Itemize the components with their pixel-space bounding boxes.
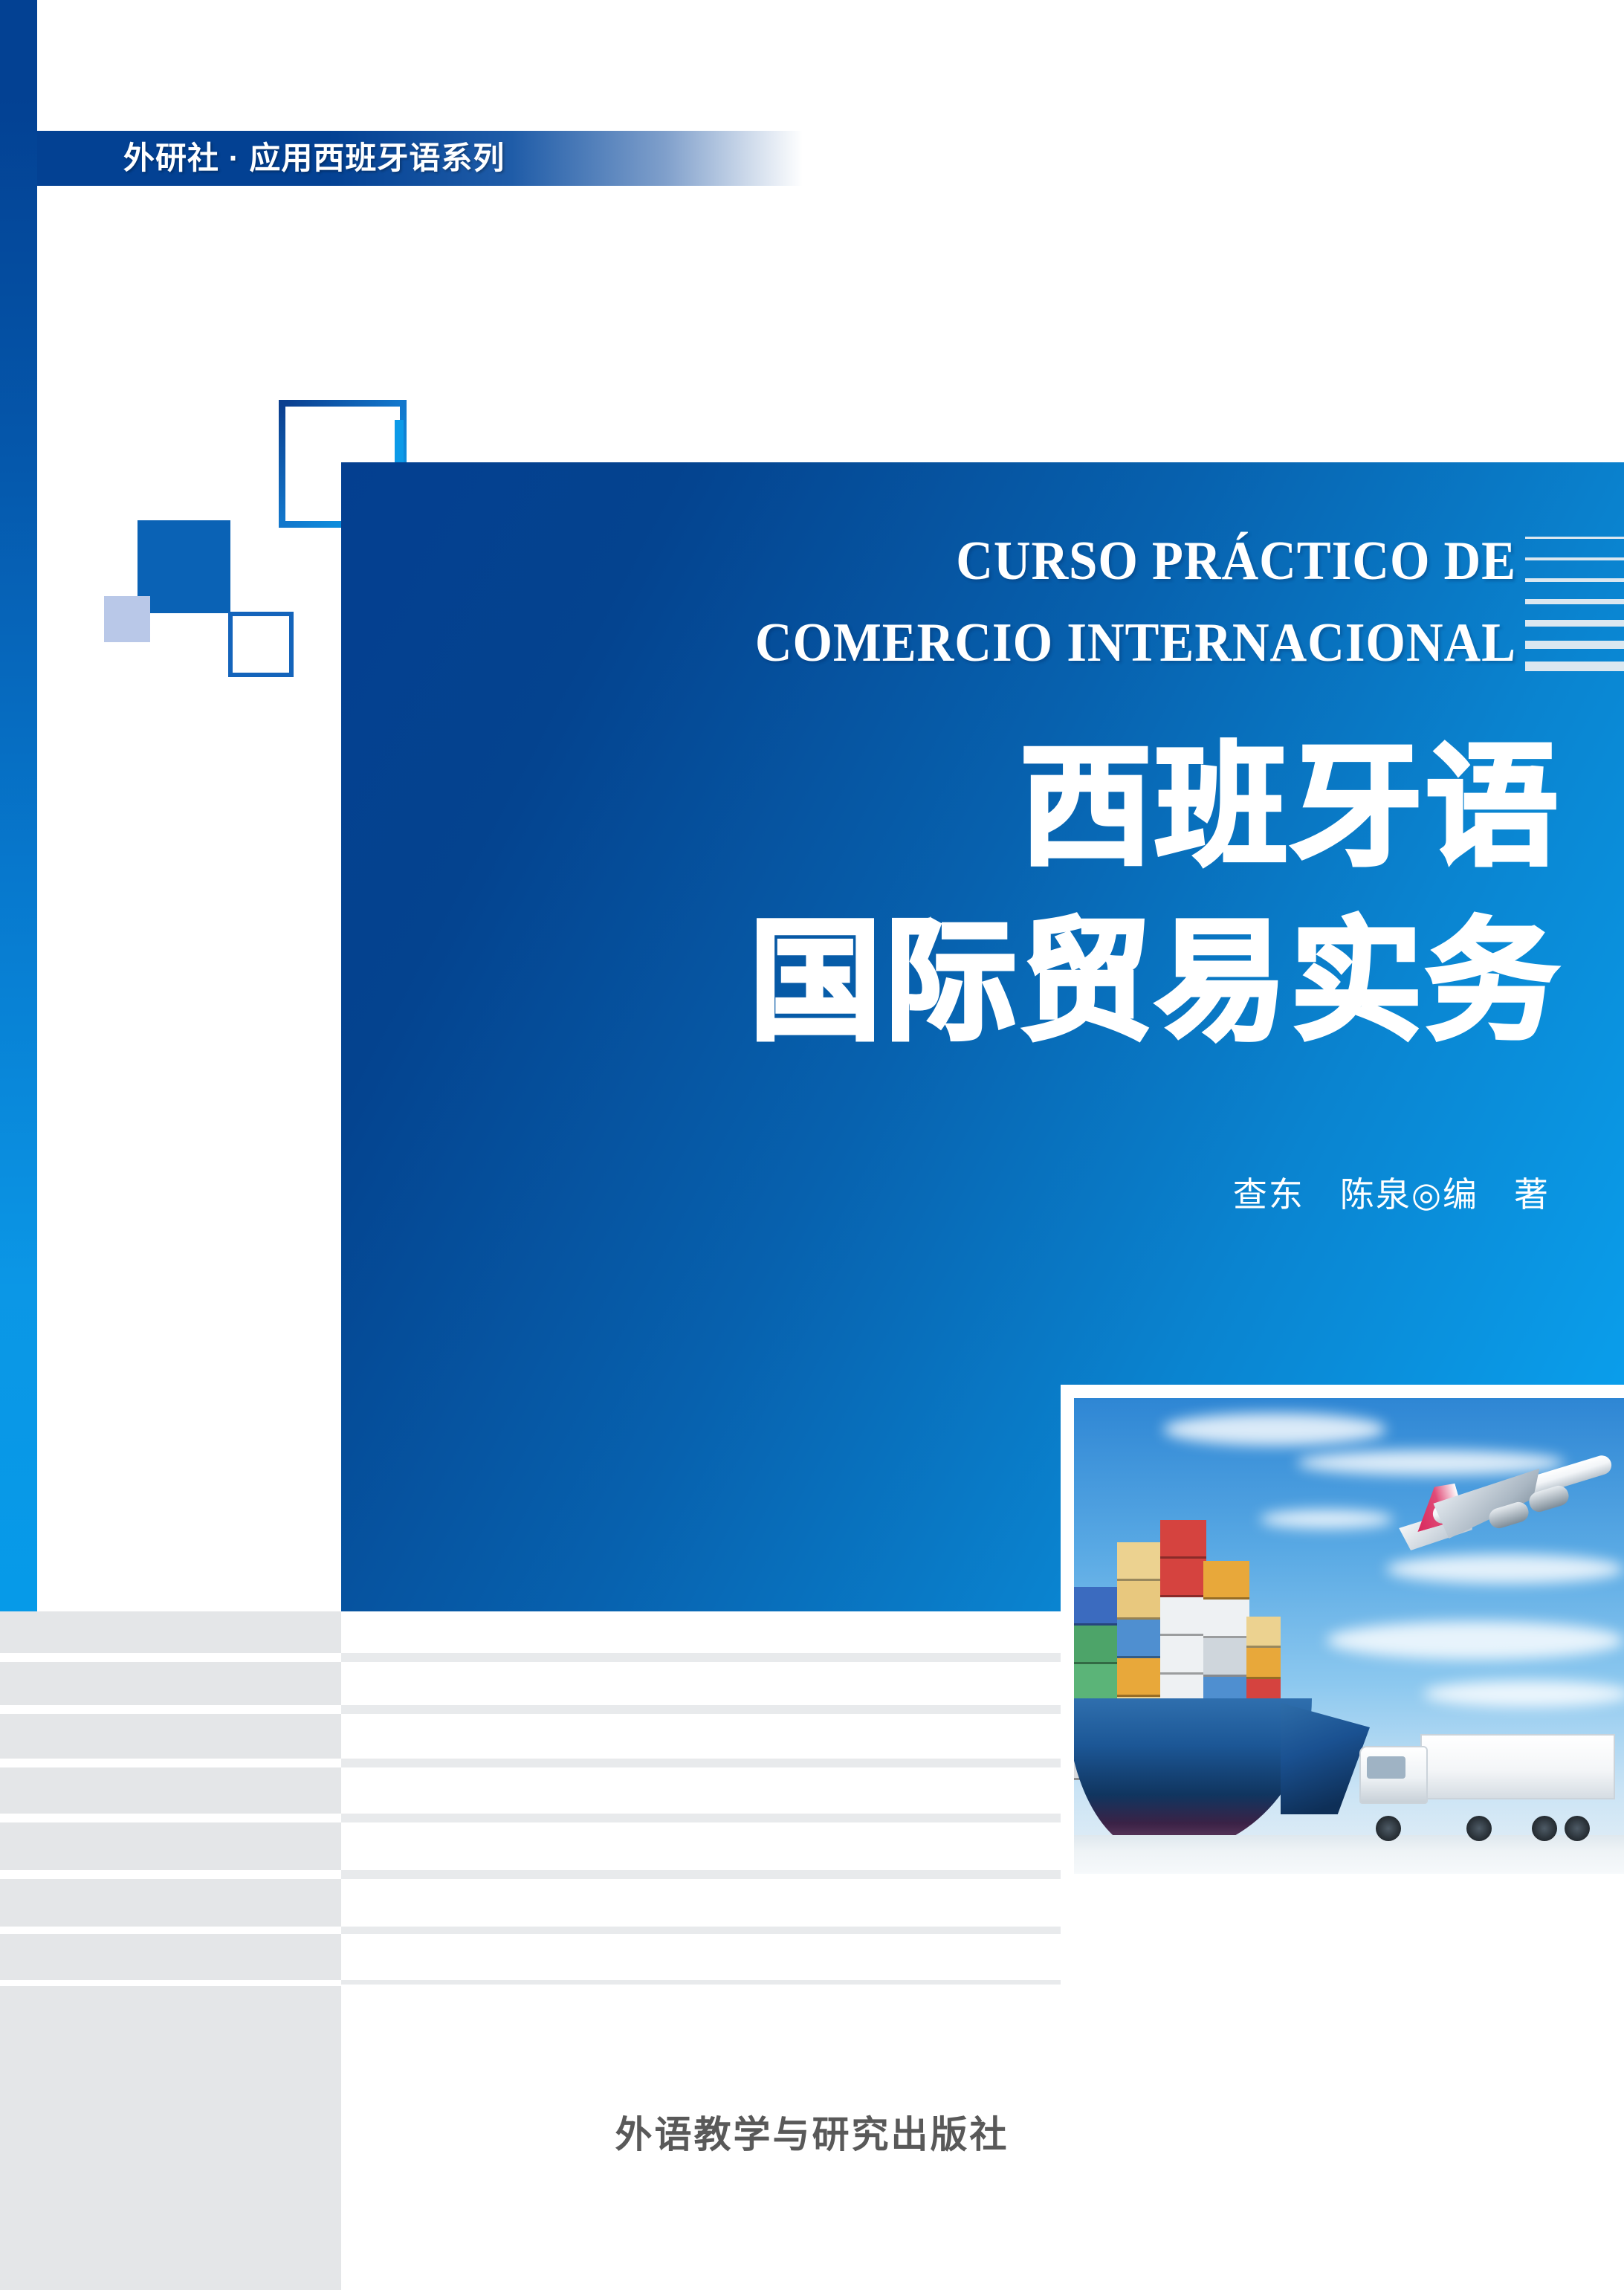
band-gap — [341, 1662, 1061, 1705]
band — [0, 1934, 341, 1980]
publisher-name: 外语教学与研究出版社 — [0, 2105, 1624, 2158]
chinese-main-title: 西班牙语 国际贸易实务 — [669, 719, 1561, 1069]
band-gap — [0, 1927, 341, 1934]
band — [0, 1822, 341, 1870]
band-gap — [0, 1705, 341, 1714]
truck-wheel — [1376, 1816, 1401, 1841]
cover-photo-frame — [1061, 1385, 1624, 1874]
band — [341, 1927, 1061, 1934]
band-gap — [341, 1822, 1061, 1870]
band — [0, 1767, 341, 1814]
band — [341, 1759, 1061, 1767]
spanish-title-line-2: COMERCIO INTERNACIONAL — [521, 602, 1516, 684]
band-gap — [0, 1653, 341, 1662]
rule-line-5 — [1525, 620, 1624, 627]
band-gap — [341, 1611, 1061, 1653]
square-pale-small-icon — [104, 596, 150, 642]
rule-line-4 — [1525, 599, 1624, 604]
band — [0, 1714, 341, 1759]
container-ship-hull — [1074, 1698, 1312, 1854]
book-cover: 外研社 · 应用西班牙语系列 CURSO PRÁCTICO DE COMERCI… — [0, 0, 1624, 2290]
cloud-wisp — [1386, 1554, 1624, 1584]
band — [341, 1870, 1061, 1879]
band-gap — [0, 1759, 341, 1767]
band — [0, 1662, 341, 1705]
container-column — [1246, 1617, 1281, 1710]
series-banner-label: 外研社 · 应用西班牙语系列 — [123, 137, 505, 180]
truck-trailer — [1420, 1734, 1615, 1799]
cloud-wisp — [1163, 1413, 1386, 1446]
band-gap — [0, 1870, 341, 1879]
rule-line-7 — [1525, 662, 1624, 671]
rule-line-6 — [1525, 641, 1624, 649]
author-credit: 查东 陈泉◎编 著 — [818, 1171, 1550, 1218]
rule-line-2 — [1525, 557, 1624, 560]
square-solid-medium-icon — [138, 520, 230, 613]
square-outline-small-icon — [228, 612, 294, 677]
band-gap — [341, 1714, 1061, 1759]
truck-wheel — [1466, 1816, 1492, 1841]
band-gap — [341, 1879, 1061, 1927]
decorative-rule-stack — [1525, 537, 1624, 671]
chinese-title-line-1: 西班牙语 — [669, 719, 1561, 894]
lower-band-pattern-right — [341, 1611, 1061, 2290]
spanish-title-line-1: CURSO PRÁCTICO DE — [521, 520, 1516, 602]
chinese-title-line-2: 国际贸易实务 — [669, 894, 1561, 1069]
band-gap — [341, 1767, 1061, 1814]
band — [0, 1879, 341, 1927]
left-spine-strip — [0, 0, 37, 1611]
rule-line-3 — [1525, 578, 1624, 582]
logistics-photo — [1074, 1398, 1624, 1874]
band-gap — [0, 1980, 341, 1986]
band-gap — [341, 1934, 1061, 1980]
truck-wheel — [1532, 1816, 1557, 1841]
lower-band-pattern-left — [0, 1611, 341, 2290]
band-gap — [0, 1814, 341, 1822]
truck-cab — [1359, 1746, 1428, 1804]
rule-line-1 — [1525, 537, 1624, 539]
cloud-wisp — [1260, 1510, 1394, 1529]
band — [341, 1814, 1061, 1822]
airplane-icon — [1394, 1440, 1617, 1559]
cloud-wisp — [1423, 1681, 1624, 1707]
cloud-wisp — [1327, 1621, 1624, 1660]
band — [341, 1653, 1061, 1662]
spanish-title: CURSO PRÁCTICO DE COMERCIO INTERNACIONAL — [521, 520, 1516, 684]
truck-wheel — [1565, 1816, 1590, 1841]
band — [0, 1611, 341, 1653]
band — [341, 1705, 1061, 1714]
cargo-truck-icon — [1355, 1730, 1615, 1841]
